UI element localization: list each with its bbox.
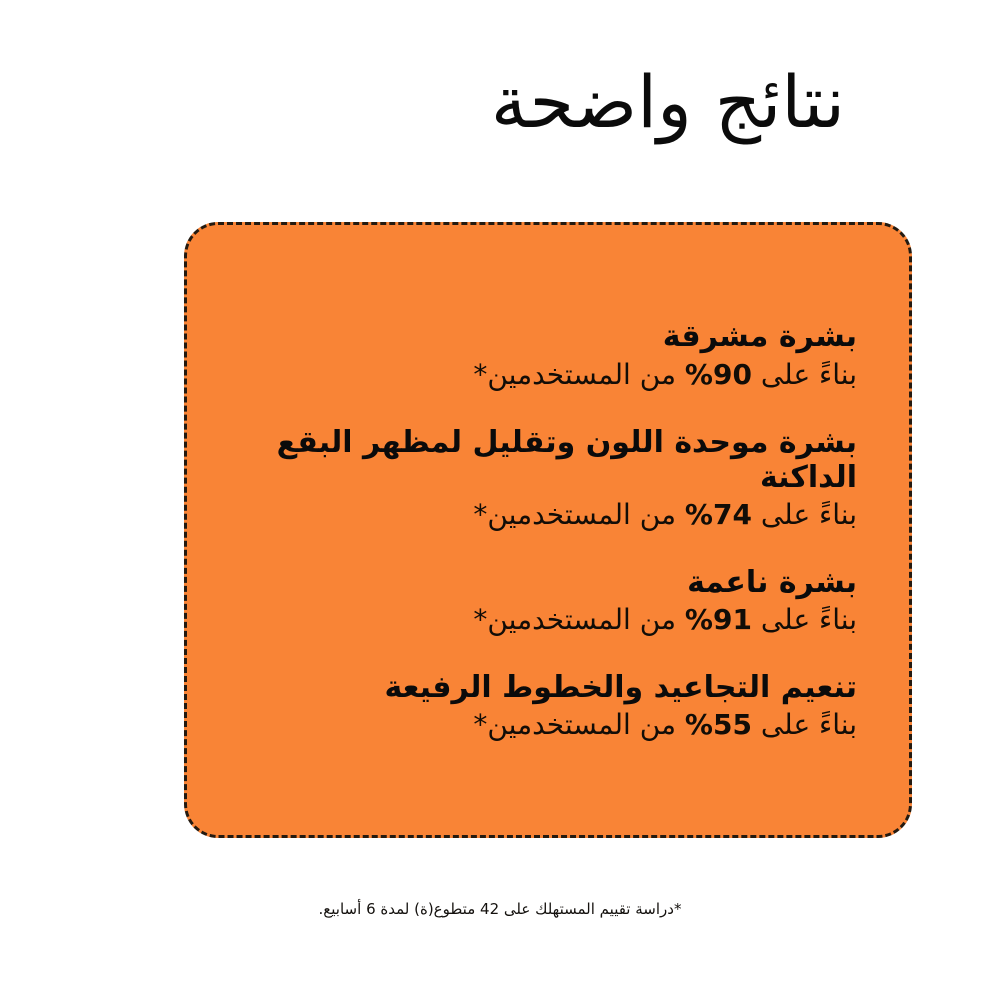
benefit-sub-prefix: بناءً على [752,603,857,636]
benefit-item-wrinkles: تنعيم التجاعيد والخطوط الرفيعة بناءً على… [217,670,857,740]
study-footnote: *دراسة تقييم المستهلك على 42 متطوع(ة) لم… [319,900,682,920]
benefit-sub-prefix: بناءً على [752,358,857,391]
benefit-heading: تنعيم التجاعيد والخطوط الرفيعة [217,670,857,705]
footnote-area: *دراسة تقييم المستهلك على 42 متطوع(ة) لم… [0,900,1000,920]
benefit-subtext: بناءً على 90% من المستخدمين* [217,358,857,391]
benefit-sub-suffix: من المستخدمين* [473,708,685,741]
benefit-percent: 74% [685,498,752,531]
benefit-sub-suffix: من المستخدمين* [473,603,685,636]
title-area: نتائج واضحة [0,0,1000,222]
benefit-sub-prefix: بناءً على [752,498,857,531]
page-title: نتائج واضحة [491,66,845,138]
benefit-sub-suffix: من المستخدمين* [473,358,685,391]
benefit-heading: بشرة ناعمة [217,565,857,602]
benefit-percent: 91% [685,603,752,636]
benefit-item-smooth-skin: بشرة ناعمة بناءً على 91% من المستخدمين* [217,565,857,637]
benefit-heading: بشرة موحدة اللون وتقليل لمظهر البقع الدا… [217,425,857,496]
benefit-item-even-tone: بشرة موحدة اللون وتقليل لمظهر البقع الدا… [217,425,857,531]
benefit-heading: بشرة مشرقة [217,319,857,356]
benefit-subtext: بناءً على 55% من المستخدمين* [217,708,857,741]
benefit-percent: 90% [685,358,752,391]
results-card: بشرة مشرقة بناءً على 90% من المستخدمين* … [184,222,912,838]
benefit-subtext: بناءً على 91% من المستخدمين* [217,603,857,636]
benefit-subtext: بناءً على 74% من المستخدمين* [217,498,857,531]
benefit-percent: 55% [685,708,752,741]
benefit-sub-prefix: بناءً على [752,708,857,741]
benefit-list: بشرة مشرقة بناءً على 90% من المستخدمين* … [217,319,857,740]
benefit-sub-suffix: من المستخدمين* [473,498,685,531]
benefit-item-radiant-skin: بشرة مشرقة بناءً على 90% من المستخدمين* [217,319,857,391]
poster-root: نتائج واضحة بشرة مشرقة بناءً على 90% من … [0,0,1000,1000]
